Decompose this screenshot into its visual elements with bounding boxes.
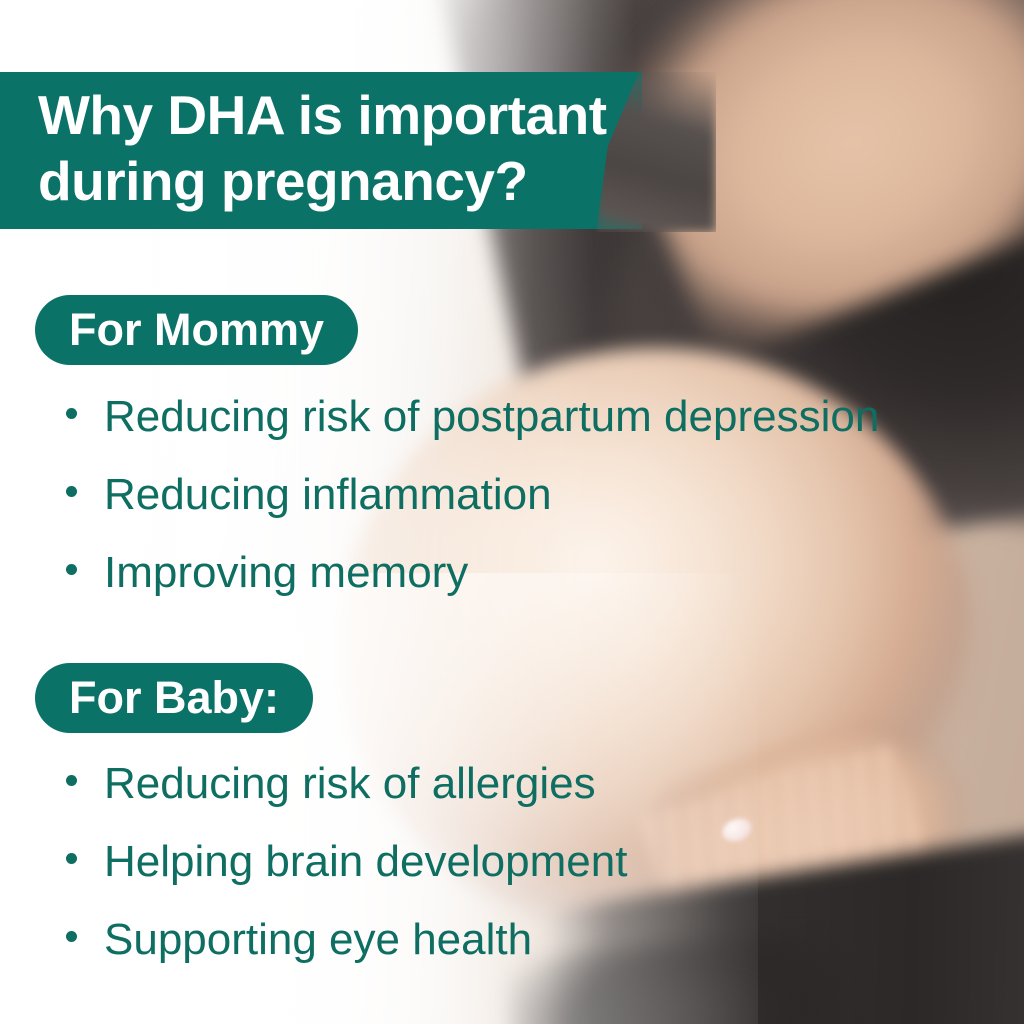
title-banner: Why DHA is important during pregnancy? <box>0 72 642 229</box>
photo-top-white-strip <box>0 0 635 82</box>
list-item-label: Supporting eye health <box>104 901 532 979</box>
infographic-poster: Why DHA is important during pregnancy? F… <box>0 0 1024 1024</box>
bullet-dot-icon <box>66 775 77 786</box>
list-item-label: Helping brain development <box>104 823 627 901</box>
list-item-label: Reducing risk of allergies <box>104 745 596 823</box>
benefits-list-baby: Reducing risk of allergies Helping brain… <box>66 745 627 979</box>
bullet-dot-icon <box>66 564 77 575</box>
list-item: Reducing inflammation <box>66 456 879 534</box>
list-item: Improving memory <box>66 534 879 612</box>
list-item-label: Improving memory <box>104 534 468 612</box>
list-item: Reducing risk of postpartum depression <box>66 378 879 456</box>
page-title-line-1: Why DHA is important <box>38 82 642 148</box>
bullet-dot-icon <box>66 853 77 864</box>
bullet-dot-icon <box>66 931 77 942</box>
list-item-label: Reducing inflammation <box>104 456 552 534</box>
benefits-list-mommy: Reducing risk of postpartum depression R… <box>66 378 879 612</box>
section-heading-baby: For Baby: <box>35 663 313 733</box>
bullet-dot-icon <box>66 408 77 419</box>
list-item-label: Reducing risk of postpartum depression <box>104 378 879 456</box>
page-title-line-2: during pregnancy? <box>38 148 642 214</box>
section-heading-mommy: For Mommy <box>35 295 358 365</box>
bullet-dot-icon <box>66 486 77 497</box>
list-item: Supporting eye health <box>66 901 627 979</box>
list-item: Reducing risk of allergies <box>66 745 627 823</box>
list-item: Helping brain development <box>66 823 627 901</box>
